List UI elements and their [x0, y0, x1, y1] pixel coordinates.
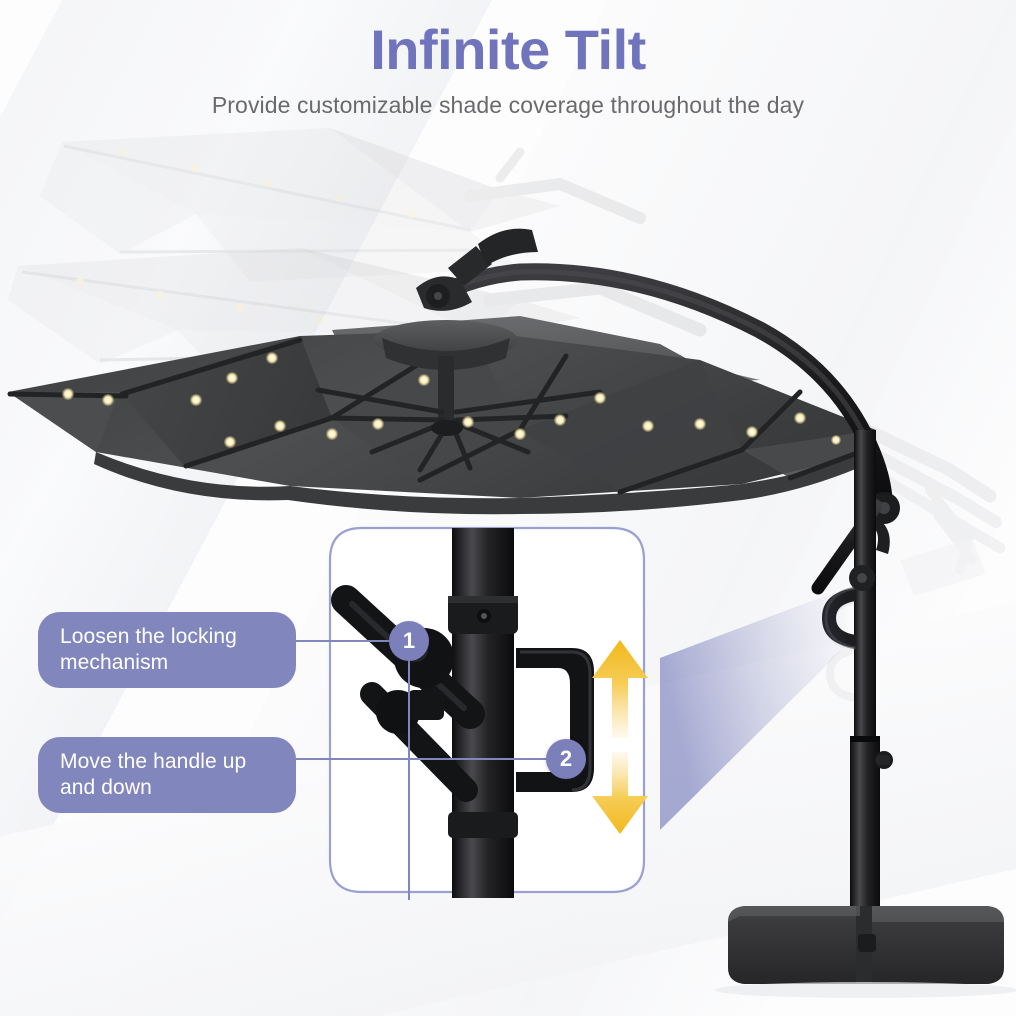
detail-beam — [660, 588, 846, 830]
step-badge-2: 2 — [546, 739, 586, 779]
callout-step-2: Move the handle up and down — [38, 737, 296, 813]
header: Infinite Tilt Provide customizable shade… — [0, 0, 1016, 119]
page-subtitle: Provide customizable shade coverage thro… — [0, 92, 1016, 119]
pole-adjust-knob — [875, 751, 893, 769]
product-illustration — [0, 0, 1016, 1016]
step-badge-1: 1 — [389, 621, 429, 661]
pole-locking-collar — [849, 565, 875, 591]
callout-step-1: Loosen the locking mechanism — [38, 612, 296, 688]
page-title: Infinite Tilt — [0, 22, 1016, 78]
base-weights — [714, 906, 1016, 998]
product-marketing-image: Infinite Tilt Provide customizable shade… — [0, 0, 1016, 1016]
